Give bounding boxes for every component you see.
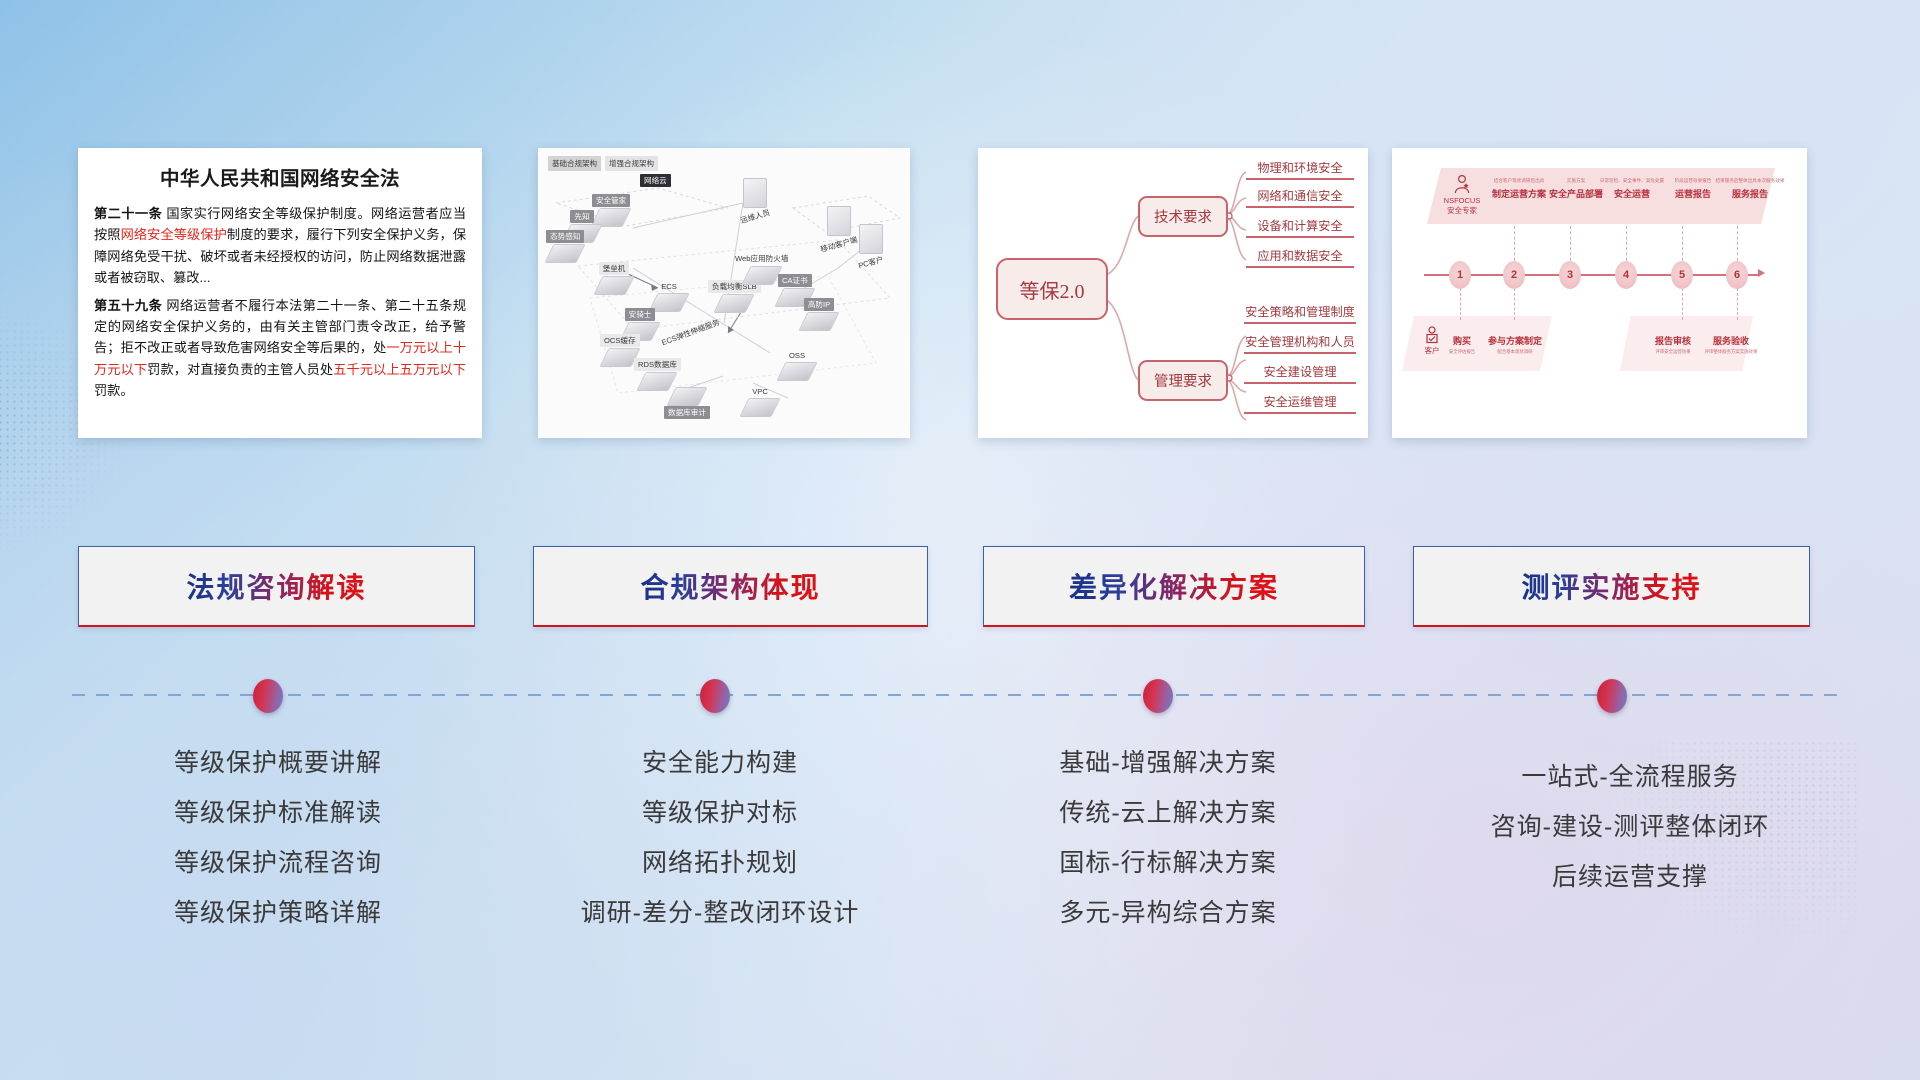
mindmap-root-node[interactable]: 等保2.0 (996, 258, 1108, 320)
headline-box-regulation-consulting[interactable]: 法规咨询解读 (78, 546, 475, 627)
expert-person-icon (1453, 174, 1471, 194)
headline-box-compliance-architecture[interactable]: 合规架构体现 (533, 546, 928, 627)
connector-6-down (1737, 288, 1738, 320)
preview-card-row: 中华人民共和国网络安全法 第二十一条 国家实行网络安全等级保护制度。网络运营者应… (0, 148, 1920, 448)
expert-persona: NSFOCUS 安全专家 (1436, 174, 1488, 215)
list-item: 等级保护流程咨询 (58, 838, 498, 888)
timeline-marker-2[interactable] (700, 679, 730, 713)
connector-4 (1626, 226, 1627, 266)
detail-list-compliance-architecture: 安全能力构建 等级保护对标 网络拓扑规划 调研-差分-整改闭环设计 (500, 738, 940, 938)
list-item: 等级保护标准解读 (58, 788, 498, 838)
headline-label: 合规架构体现 (640, 566, 820, 606)
connector-3 (1570, 226, 1571, 266)
headline-box-assessment-support[interactable]: 测评实施支持 (1413, 546, 1810, 627)
mindmap-leaf-device-compute: 设备和计算安全 (1246, 216, 1354, 238)
bottom-stage-6: 服务验收 评审整体服务方案实施效果 (1702, 334, 1760, 355)
mindmap-branch-management[interactable]: 管理要求 (1138, 360, 1228, 401)
law-article-59: 第五十九条 网络运营者不履行本法第二十一条、第二十五条规定的网络安全保护义务的，… (94, 295, 466, 402)
step-node-4[interactable]: 4 (1615, 261, 1637, 289)
list-item: 一站式-全流程服务 (1400, 752, 1860, 802)
bottom-stage-1: 购买 安全评估报告 (1440, 334, 1484, 355)
mindmap-leaf-physical-env: 物理和环境安全 (1246, 158, 1354, 180)
article-59-seg-2: 罚款，对直接负责的主管人员处 (147, 362, 333, 377)
list-item: 网络拓扑规划 (500, 838, 940, 888)
law-article-21: 第二十一条 国家实行网络安全等级保护制度。网络运营者应当按照网络安全等级保护制度… (94, 203, 466, 289)
list-item: 咨询-建设-测评整体闭环 (1400, 802, 1860, 852)
timeline-arrow-icon (1758, 269, 1765, 277)
compliance-architecture-card[interactable]: 基础合规架构 增强合规架构 (538, 148, 910, 438)
mindmap-leaf-org-personnel: 安全管理机构和人员 (1244, 332, 1356, 354)
expert-title: NSFOCUS (1444, 196, 1481, 205)
article-59-seg-3-highlight: 五千元以上五万元以下 (333, 362, 466, 377)
timeline-axis (1424, 274, 1760, 276)
mindmap-leaf-app-data: 应用和数据安全 (1246, 246, 1354, 268)
law-title: 中华人民共和国网络安全法 (94, 162, 466, 191)
bottom-stage-5: 报告审核 评审安全运营效果 (1646, 334, 1700, 355)
mindmap-branch-technical[interactable]: 技术要求 (1138, 196, 1228, 237)
node-bastion-host: 堡垒机 (598, 262, 630, 295)
list-item: 等级保护概要讲解 (58, 738, 498, 788)
mindmap-leaf-policy-system: 安全策略和管理制度 (1244, 302, 1356, 324)
list-item: 等级保护对标 (500, 788, 940, 838)
node-vpc: VPC (744, 386, 776, 417)
nsfocus-timeline: NSFOCUS 安全专家 结合客户现状调研后出具 制定运营方案 实施方案 安全产… (1392, 148, 1807, 438)
timeline-marker-1[interactable] (253, 679, 283, 713)
node-network-cloud: 网络云 (640, 174, 671, 187)
headline-box-differentiated-solution[interactable]: 差异化解决方案 (983, 546, 1365, 627)
list-item: 安全能力构建 (500, 738, 940, 788)
timeline-marker-4[interactable] (1597, 679, 1627, 713)
connector-2-down (1514, 288, 1515, 320)
node-database-audit: 数据库审计 (664, 386, 710, 419)
top-stage-4: 日常巡检、安全事件、高危处置 安全运营 (1598, 178, 1666, 200)
step-node-2[interactable]: 2 (1503, 261, 1525, 289)
node-oss: OSS (781, 350, 813, 381)
article-number-59: 第五十九条 (94, 298, 162, 313)
list-item: 后续运营支撑 (1400, 852, 1860, 902)
list-item: 传统-云上解决方案 (948, 788, 1388, 838)
top-stage-6: 结束服务后整体出具本次服务效果 服务报告 (1714, 178, 1786, 200)
connector-5-down (1682, 288, 1683, 320)
mindmap-leaf-ops-mgmt: 安全运维管理 (1244, 392, 1356, 414)
headline-label: 差异化解决方案 (1069, 566, 1279, 606)
law-text-body: 中华人民共和国网络安全法 第二十一条 国家实行网络安全等级保护制度。网络运营者应… (78, 148, 482, 438)
customer-person-icon (1424, 326, 1440, 344)
step-node-5[interactable]: 5 (1671, 261, 1693, 289)
connector-6 (1737, 226, 1738, 266)
step-node-3[interactable]: 3 (1559, 261, 1581, 289)
architecture-diagram: 基础合规架构 增强合规架构 (538, 148, 910, 438)
connector-2 (1514, 226, 1515, 266)
bottom-stage-2: 参与方案制定 配合基本现状调研 (1484, 334, 1546, 355)
list-item: 等级保护策略详解 (58, 888, 498, 938)
article-21-seg-1-highlight: 网络安全等级保护 (121, 227, 227, 242)
detail-list-differentiated-solution: 基础-增强解决方案 传统-云上解决方案 国标-行标解决方案 多元-异构综合方案 (948, 738, 1388, 938)
list-item: 国标-行标解决方案 (948, 838, 1388, 888)
expert-subtitle: 安全专家 (1447, 206, 1477, 215)
top-stage-2: 结合客户现状调研后出具 制定运营方案 (1487, 178, 1551, 200)
headline-label: 测评实施支持 (1521, 566, 1701, 606)
cybersecurity-law-card[interactable]: 中华人民共和国网络安全法 第二十一条 国家实行网络安全等级保护制度。网络运营者应… (78, 148, 482, 438)
node-ecs: ECS (653, 281, 685, 312)
article-59-seg-4: 罚款。 (94, 383, 134, 398)
step-node-6[interactable]: 6 (1726, 261, 1748, 289)
list-item: 基础-增强解决方案 (948, 738, 1388, 788)
detail-list-regulation-consulting: 等级保护概要讲解 等级保护标准解读 等级保护流程咨询 等级保护策略详解 (58, 738, 498, 938)
list-item: 多元-异构综合方案 (948, 888, 1388, 938)
article-number-21: 第二十一条 (94, 206, 162, 221)
node-anti-ddos-ip: 高防IP (803, 298, 835, 331)
node-pc-client: PC客户 (854, 224, 888, 269)
timeline-dashed-line (72, 694, 1840, 696)
detail-list-assessment-support: 一站式-全流程服务 咨询-建设-测评整体闭环 后续运营支撑 (1400, 752, 1860, 902)
nsfocus-service-timeline-card[interactable]: NSFOCUS 安全专家 结合客户现状调研后出具 制定运营方案 实施方案 安全产… (1392, 148, 1807, 438)
mindmap-leaf-construction-mgmt: 安全建设管理 (1244, 362, 1356, 384)
connector-5 (1682, 226, 1683, 266)
mindmap-leaf-network-comm: 网络和通信安全 (1246, 186, 1354, 208)
customer-label: 客户 (1425, 346, 1440, 355)
mindmap: 等保2.0 技术要求 管理要求 物理和环境安全 网络和通信安全 设备和计算安全 … (978, 148, 1368, 438)
headline-label: 法规咨询解读 (186, 566, 366, 606)
timeline-marker-3[interactable] (1143, 679, 1173, 713)
node-situational-awareness: 态势感知 (546, 230, 584, 263)
node-ops-personnel: 运维人员 (736, 178, 774, 223)
list-item: 调研-差分-整改闭环设计 (500, 888, 940, 938)
step-node-1[interactable]: 1 (1449, 261, 1471, 289)
connector-1-down (1460, 288, 1461, 320)
dengbao-mindmap-card[interactable]: 等保2.0 技术要求 管理要求 物理和环境安全 网络和通信安全 设备和计算安全 … (978, 148, 1368, 438)
